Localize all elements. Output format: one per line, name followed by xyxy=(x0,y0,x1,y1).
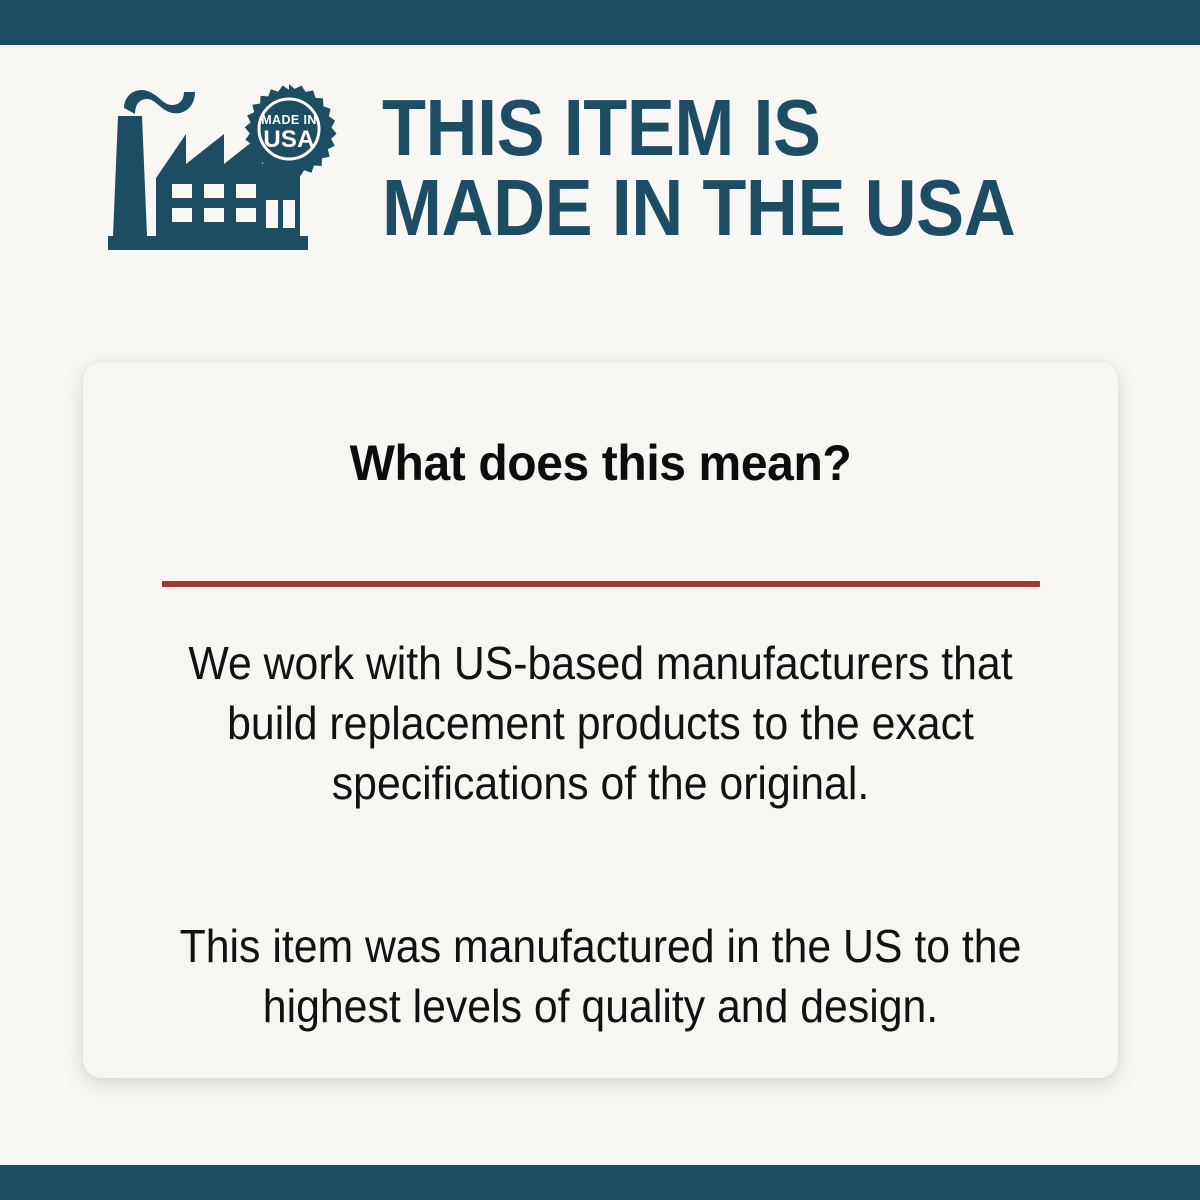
headline-line-2: MADE IN THE USA xyxy=(382,168,1015,247)
card-title: What does this mean? xyxy=(104,434,1098,492)
card-paragraph-1: We work with US-based manufacturers that… xyxy=(175,634,1026,813)
top-brand-bar xyxy=(0,0,1200,45)
chimney-icon xyxy=(113,116,147,236)
svg-text:USA: USA xyxy=(263,126,314,153)
bottom-brand-bar xyxy=(0,1165,1200,1200)
factory-logo: MADE IN USA xyxy=(100,78,340,258)
svg-text:MADE IN: MADE IN xyxy=(261,113,317,127)
info-card: What does this mean? We work with US-bas… xyxy=(83,362,1118,1078)
header: MADE IN USA THIS ITEM IS MADE IN THE USA xyxy=(0,45,1200,290)
factory-base-icon xyxy=(108,236,308,250)
page-canvas: MADE IN USA THIS ITEM IS MADE IN THE USA… xyxy=(0,45,1200,1165)
page-title: THIS ITEM IS MADE IN THE USA xyxy=(382,88,1015,246)
smoke-icon xyxy=(124,89,195,113)
card-paragraph-2: This item was manufactured in the US to … xyxy=(175,917,1026,1037)
headline-line-1: THIS ITEM IS xyxy=(382,88,1015,167)
title-divider xyxy=(162,581,1040,587)
